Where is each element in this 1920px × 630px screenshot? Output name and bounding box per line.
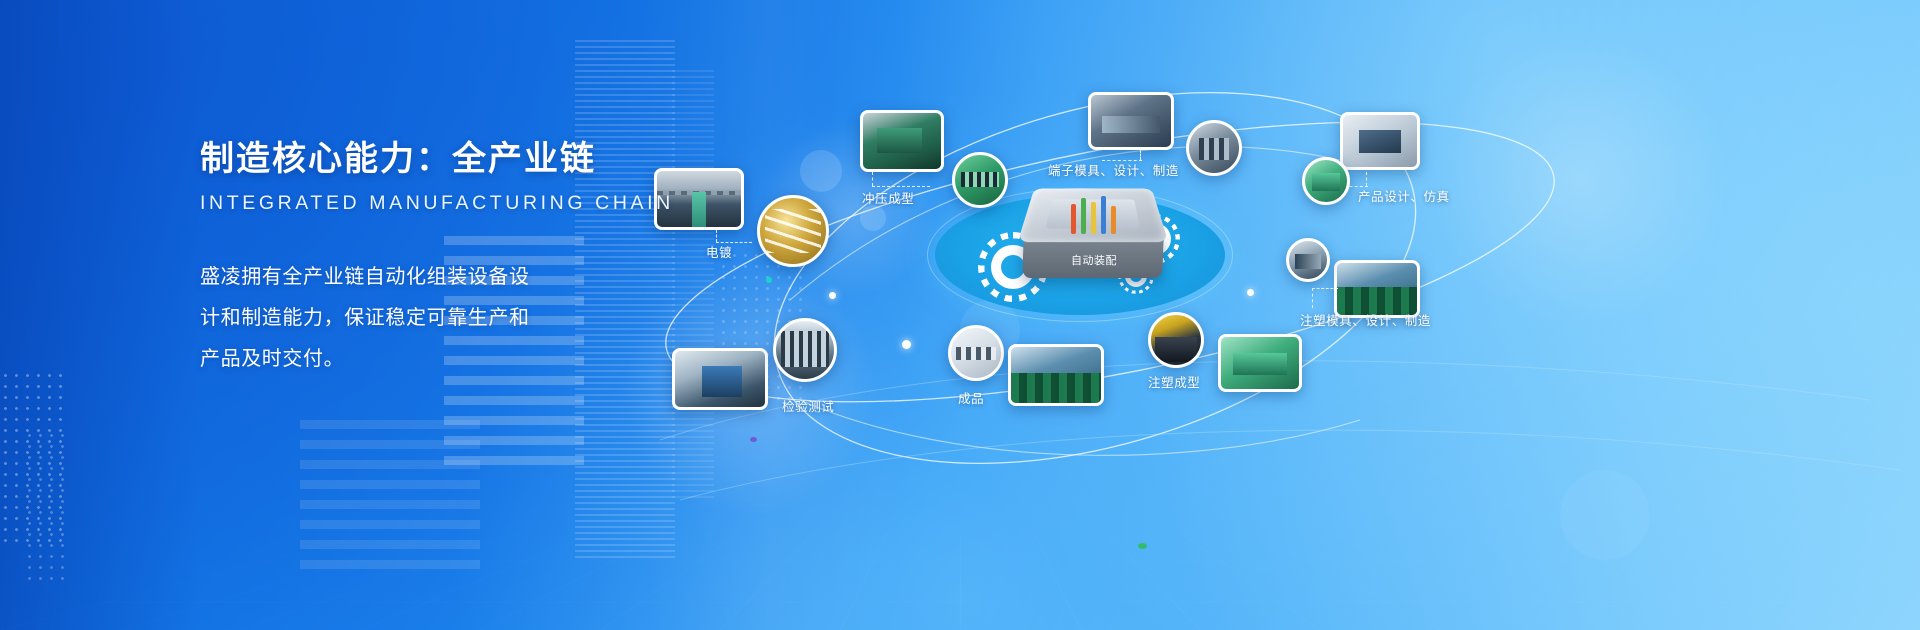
description-line-2: 计和制造能力，保证稳定可靠生产和 (200, 298, 620, 339)
finished-product-label: 成品 (958, 388, 984, 407)
product-design-thumbnail[interactable] (1340, 112, 1420, 170)
injection-forming-label: 注塑成型 (1148, 372, 1200, 391)
stamping-connector-v (872, 172, 873, 186)
terminal-mold-connector-h (1102, 160, 1142, 161)
banner-stage: 制造核心能力：全产业链 INTEGRATED MANUFACTURING CHA… (0, 0, 1920, 630)
plating-connector-h (716, 242, 752, 243)
terminal-mold-detail-thumbnail[interactable] (1186, 120, 1242, 176)
terminal-mold-thumbnail[interactable] (1088, 92, 1174, 150)
product-design-detail-thumbnail[interactable] (1302, 157, 1350, 205)
manufacturing-chain-diagram: 自动装配 电镀 冲压成型 端子模具、设计、制造 (640, 0, 1920, 630)
machine-pin-blue (1101, 196, 1106, 234)
accent-dot-teal (766, 277, 772, 283)
injection-mold-detail-thumbnail[interactable] (1286, 238, 1330, 282)
banner-copy: 制造核心能力：全产业链 INTEGRATED MANUFACTURING CHA… (200, 140, 620, 380)
product-design-connector-v (1366, 172, 1367, 186)
machine-pin-red (1071, 204, 1076, 234)
injection-mold-label: 注塑模具、设计、制造 (1300, 310, 1431, 329)
center-hub-label: 自动装配 (1051, 252, 1137, 268)
orbit-dot-1 (902, 340, 911, 349)
machine-pin-yellow (1091, 202, 1096, 234)
page-subtitle: INTEGRATED MANUFACTURING CHAIN (200, 192, 620, 215)
stamping-connector-h (872, 186, 930, 187)
terminal-mold-connector-v (1140, 150, 1141, 160)
dot-matrix-left-bottom (24, 430, 68, 580)
square-matrix-lower (300, 420, 480, 580)
description-line-1: 盛凌拥有全产业链自动化组装设备设 (200, 257, 620, 298)
stamping-detail-thumbnail[interactable] (952, 152, 1008, 208)
plated-part-thumbnail[interactable] (757, 195, 829, 267)
orbit-dot-3 (1247, 289, 1254, 296)
machine-pin-orange (1111, 206, 1116, 234)
page-title: 制造核心能力：全产业链 (200, 140, 620, 179)
inspection-label: 检验测试 (782, 396, 834, 415)
inspection-thumbnail[interactable] (672, 348, 768, 410)
stamping-label: 冲压成型 (862, 188, 914, 207)
orbit-paths (640, 0, 1920, 630)
machine-pin-green (1081, 198, 1086, 234)
finished-product-thumbnail[interactable] (948, 325, 1004, 381)
assembly-line-thumbnail[interactable] (1008, 344, 1104, 406)
terminal-mold-label: 端子模具、设计、制造 (1048, 160, 1179, 179)
assembly-machine-model: 自动装配 (1023, 168, 1163, 278)
stamping-thumbnail[interactable] (860, 110, 944, 172)
inspection-detail-thumbnail[interactable] (773, 318, 837, 382)
accent-dot-green (1138, 543, 1147, 549)
description-line-3: 产品及时交付。 (200, 339, 620, 380)
banner-description: 盛凌拥有全产业链自动化组装设备设 计和制造能力，保证稳定可靠生产和 产品及时交付… (200, 257, 620, 380)
injection-mold-connector-h (1312, 288, 1338, 289)
accent-dot-violet (750, 437, 757, 442)
injection-mold-connector-v (1312, 288, 1313, 308)
injection-forming-thumbnail[interactable] (1148, 312, 1204, 368)
plating-connector-v (716, 230, 717, 242)
product-design-label: 产品设计、仿真 (1358, 186, 1450, 205)
plating-label: 电镀 (706, 242, 732, 261)
injection-forming-detail-thumbnail[interactable] (1218, 334, 1302, 392)
orbit-dot-2 (829, 292, 836, 299)
